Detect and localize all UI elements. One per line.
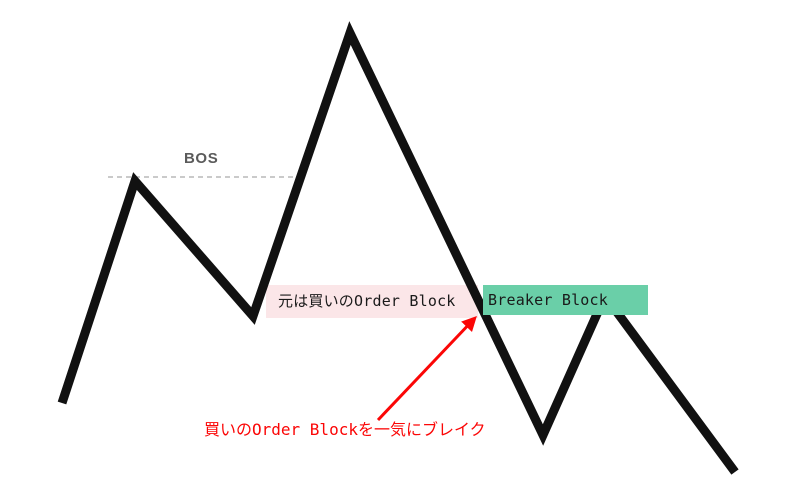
break-arrow-icon — [378, 319, 474, 420]
break-annotation-label: 買いのOrder Blockを一気にブレイク — [204, 420, 486, 439]
chart-diagram: BOS 元は買いのOrder Block Breaker Block 買いのOr… — [0, 0, 800, 500]
break-annotation-text: 買いのOrder Blockを一気にブレイク — [204, 421, 486, 439]
